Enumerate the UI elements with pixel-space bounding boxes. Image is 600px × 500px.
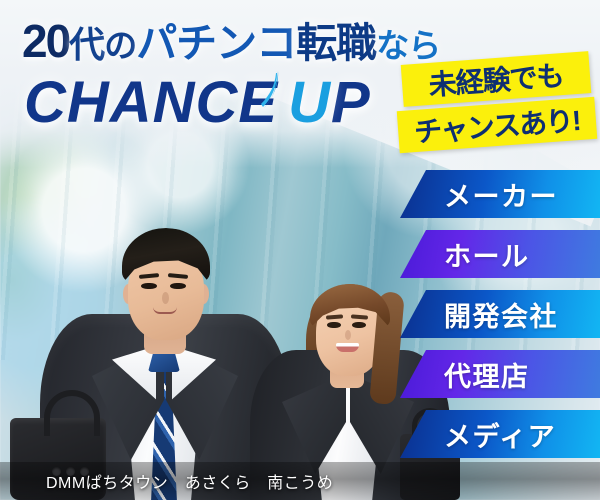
businesswoman-eyebrow-right (351, 314, 368, 319)
people-photo (0, 160, 420, 500)
logo-chance-up: CHANCEUP (24, 74, 371, 132)
category-item-media[interactable]: メディア (400, 410, 600, 458)
headline-age-number: 20 (22, 15, 69, 67)
badge-line-2: チャンスあり! (397, 97, 598, 153)
businessman-eye-right (170, 283, 186, 289)
badge-no-experience: 未経験でも チャンスあり! (398, 56, 598, 154)
businesswoman-nose (345, 330, 351, 340)
category-item-agency[interactable]: 代理店 (400, 350, 600, 398)
logo-letter-u: U (288, 70, 331, 135)
headline: 20代のパチンコ転職なら (22, 18, 440, 64)
headline-age-suffix: 代 (69, 24, 104, 65)
category-item-developer[interactable]: 開発会社 (400, 290, 600, 338)
businessman-eye-left (141, 283, 157, 289)
category-list: メーカー ホール 開発会社 代理店 メディア (400, 170, 600, 458)
banner-ad[interactable]: 20代のパチンコ転職なら CHANCEUP 未経験でも チャンスあり! メーカー… (0, 0, 600, 500)
logo-letter-p: P (331, 70, 371, 135)
businesswoman-eye-left (327, 322, 341, 328)
businesswoman-eyebrow-left (326, 314, 343, 319)
headline-pachinko: パチンコ (136, 20, 296, 66)
businesswoman-mouth (336, 343, 359, 352)
category-item-hall[interactable]: ホール (400, 230, 600, 278)
logo-word-chance: CHANCE (24, 70, 278, 135)
logo-word-up: UP (288, 70, 371, 135)
businessman-mouth (153, 307, 177, 314)
headline-tenshoku: 転職 (296, 20, 376, 66)
headline-particle-no: の (104, 27, 136, 64)
category-item-maker[interactable]: メーカー (400, 170, 600, 218)
credit-bar: DMMぱちタウン あさくら 南こうめ (0, 462, 600, 500)
businessman-nose (162, 292, 169, 304)
businesswoman-eye-right (352, 322, 366, 328)
